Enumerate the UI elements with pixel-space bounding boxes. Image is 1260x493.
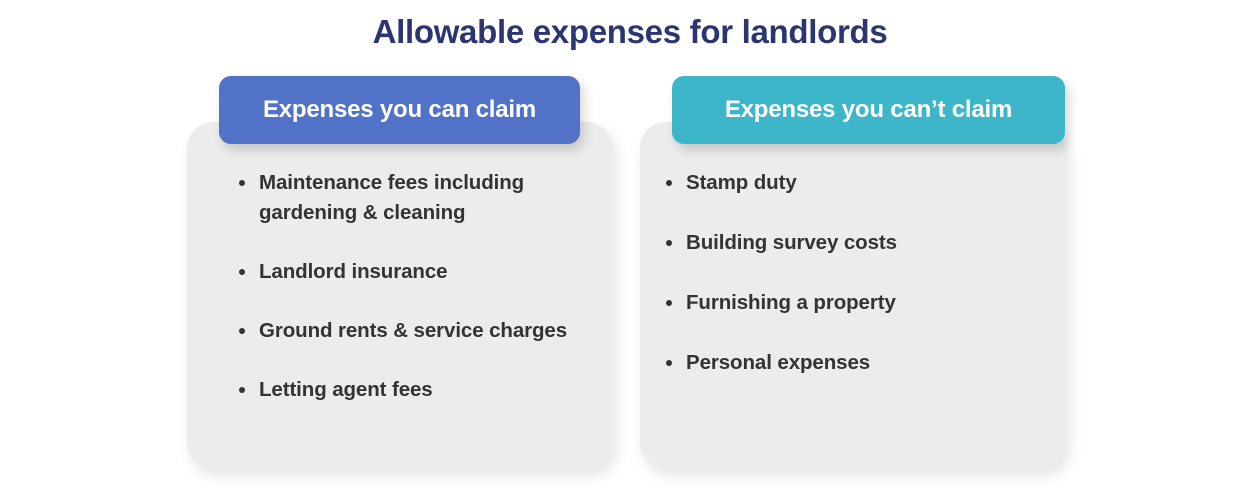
- heading-pill-cannot-claim: Expenses you can’t claim: [672, 76, 1065, 144]
- bullet-icon: [239, 387, 245, 393]
- list-item: Ground rents & service charges: [187, 316, 613, 346]
- list-can-claim: Maintenance fees including gardening & c…: [187, 168, 613, 434]
- allowable-expenses-infographic: Allowable expenses for landlords Expense…: [0, 0, 1260, 493]
- bullet-icon: [666, 360, 672, 366]
- bullet-icon: [239, 269, 245, 275]
- bullet-icon: [666, 180, 672, 186]
- columns-container: Expenses you can claim Maintenance fees …: [187, 76, 1063, 476]
- list-item: Personal expenses: [640, 348, 1066, 378]
- column-expenses-you-cannot-claim: Expenses you can’t claim Stamp duty Buil…: [640, 76, 1066, 476]
- list-item: Stamp duty: [640, 168, 1066, 198]
- list-item: Building survey costs: [640, 228, 1066, 258]
- bullet-icon: [239, 180, 245, 186]
- list-item: Letting agent fees: [187, 375, 613, 405]
- list-item: Maintenance fees including gardening & c…: [187, 168, 613, 228]
- list-item: Furnishing a property: [640, 288, 1066, 318]
- list-item-label: Landlord insurance: [259, 260, 447, 283]
- bullet-icon: [666, 300, 672, 306]
- list-item-label: Letting agent fees: [259, 378, 433, 401]
- bullet-icon: [666, 240, 672, 246]
- list-item-label: Building survey costs: [686, 231, 897, 254]
- list-item-label: Ground rents & service charges: [259, 319, 567, 342]
- list-item-label: Stamp duty: [686, 171, 797, 194]
- list-item-label: Personal expenses: [686, 351, 870, 374]
- list-item-label: Maintenance fees including gardening & c…: [259, 171, 524, 224]
- list-item: Landlord insurance: [187, 257, 613, 287]
- page-title: Allowable expenses for landlords: [0, 13, 1260, 51]
- list-cannot-claim: Stamp duty Building survey costs Furnish…: [640, 168, 1066, 408]
- column-expenses-you-can-claim: Expenses you can claim Maintenance fees …: [187, 76, 613, 476]
- bullet-icon: [239, 328, 245, 334]
- heading-pill-can-claim: Expenses you can claim: [219, 76, 580, 144]
- list-item-label: Furnishing a property: [686, 291, 896, 314]
